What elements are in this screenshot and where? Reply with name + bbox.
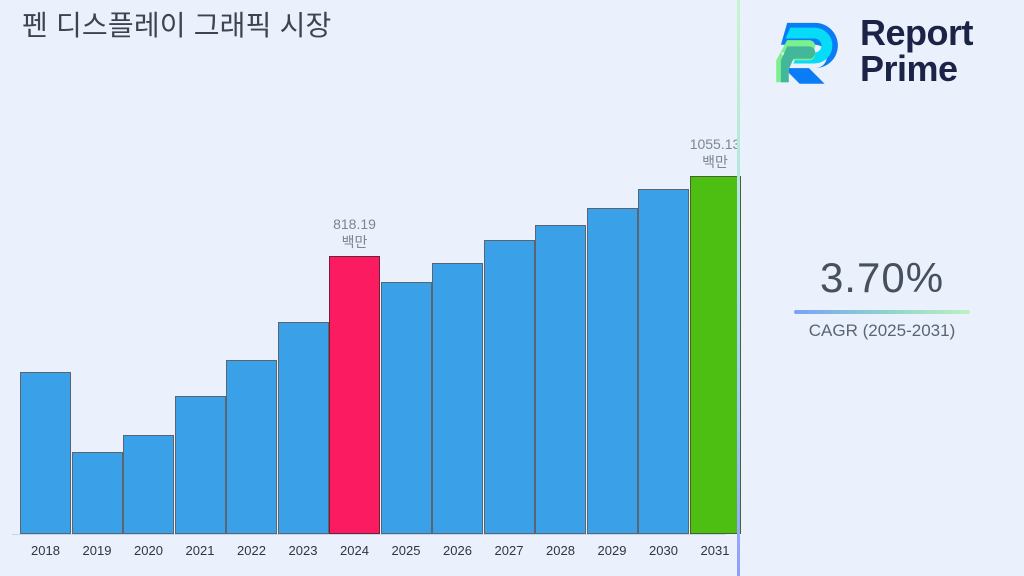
x-tick-2025: 2025 bbox=[381, 542, 432, 559]
x-tick-2026: 2026 bbox=[432, 542, 483, 559]
report-prime-logo-icon bbox=[770, 12, 848, 90]
x-tick-2030: 2030 bbox=[638, 542, 689, 559]
brand-name-line2: Prime bbox=[860, 51, 973, 87]
cagr-block: 3.70% CAGR (2025-2031) bbox=[740, 253, 1024, 342]
bar-group-2031: 1055.13백만2031 bbox=[690, 176, 741, 534]
x-axis-line bbox=[12, 534, 726, 535]
brand-wordmark: Report Prime bbox=[860, 15, 973, 87]
bar-2023[interactable] bbox=[278, 322, 329, 534]
bar-2020[interactable] bbox=[123, 435, 174, 534]
bar-group-2018: 2018 bbox=[20, 372, 71, 534]
x-tick-2027: 2027 bbox=[484, 542, 535, 559]
x-tick-2029: 2029 bbox=[587, 542, 638, 559]
chart-panel: 펜 디스플레이 그래픽 시장 2018201920202021202220238… bbox=[0, 0, 738, 576]
x-tick-2031: 2031 bbox=[690, 542, 741, 559]
bar-2030[interactable] bbox=[638, 189, 689, 534]
x-tick-2023: 2023 bbox=[278, 542, 329, 559]
bar-unit-2031: 백만 bbox=[690, 153, 741, 171]
bar-group-2030: 2030 bbox=[638, 189, 689, 534]
x-tick-2021: 2021 bbox=[175, 542, 226, 559]
bar-2021[interactable] bbox=[175, 396, 226, 534]
bar-group-2025: 2025 bbox=[381, 282, 432, 534]
bar-2025[interactable] bbox=[381, 282, 432, 534]
bar-group-2028: 2028 bbox=[535, 225, 586, 534]
bar-group-2022: 2022 bbox=[226, 360, 277, 534]
bar-group-2024: 818.19백만2024 bbox=[329, 256, 380, 534]
x-tick-2028: 2028 bbox=[535, 542, 586, 559]
x-tick-2024: 2024 bbox=[329, 542, 380, 559]
cagr-divider-rule bbox=[794, 310, 970, 314]
bar-group-2027: 2027 bbox=[484, 240, 535, 534]
x-tick-2020: 2020 bbox=[123, 542, 174, 559]
x-tick-2018: 2018 bbox=[20, 542, 71, 559]
bar-2019[interactable] bbox=[72, 452, 123, 534]
brand-panel: Report Prime 3.70% CAGR (2025-2031) bbox=[740, 0, 1024, 576]
bar-2027[interactable] bbox=[484, 240, 535, 534]
screenshot-root: 펜 디스플레이 그래픽 시장 2018201920202021202220238… bbox=[0, 0, 1024, 576]
x-tick-2019: 2019 bbox=[72, 542, 123, 559]
bar-2029[interactable] bbox=[587, 208, 638, 534]
bar-2031[interactable] bbox=[690, 176, 741, 534]
x-tick-2022: 2022 bbox=[226, 542, 277, 559]
bar-2024[interactable] bbox=[329, 256, 380, 534]
bar-2022[interactable] bbox=[226, 360, 277, 534]
bar-2026[interactable] bbox=[432, 263, 483, 534]
bar-group-2020: 2020 bbox=[123, 435, 174, 534]
bar-value-label-2031: 1055.13백만 bbox=[690, 135, 741, 171]
brand-name-line1: Report bbox=[860, 12, 973, 53]
bar-group-2026: 2026 bbox=[432, 263, 483, 534]
bar-2018[interactable] bbox=[20, 372, 71, 534]
bar-group-2029: 2029 bbox=[587, 208, 638, 534]
bar-unit-2024: 백만 bbox=[333, 233, 376, 251]
cagr-value: 3.70% bbox=[740, 253, 1024, 303]
bar-value-label-2024: 818.19백만 bbox=[333, 215, 376, 251]
bar-group-2021: 2021 bbox=[175, 396, 226, 534]
cagr-caption: CAGR (2025-2031) bbox=[740, 320, 1024, 342]
bar-2028[interactable] bbox=[535, 225, 586, 534]
bar-chart: 201820192020202120222023818.19백만20242025… bbox=[0, 0, 738, 576]
brand-logo: Report Prime bbox=[770, 12, 973, 90]
bar-value-2024: 818.19 bbox=[333, 215, 376, 233]
bar-group-2023: 2023 bbox=[278, 322, 329, 534]
bar-group-2019: 2019 bbox=[72, 452, 123, 534]
bar-value-2031: 1055.13 bbox=[690, 135, 741, 153]
